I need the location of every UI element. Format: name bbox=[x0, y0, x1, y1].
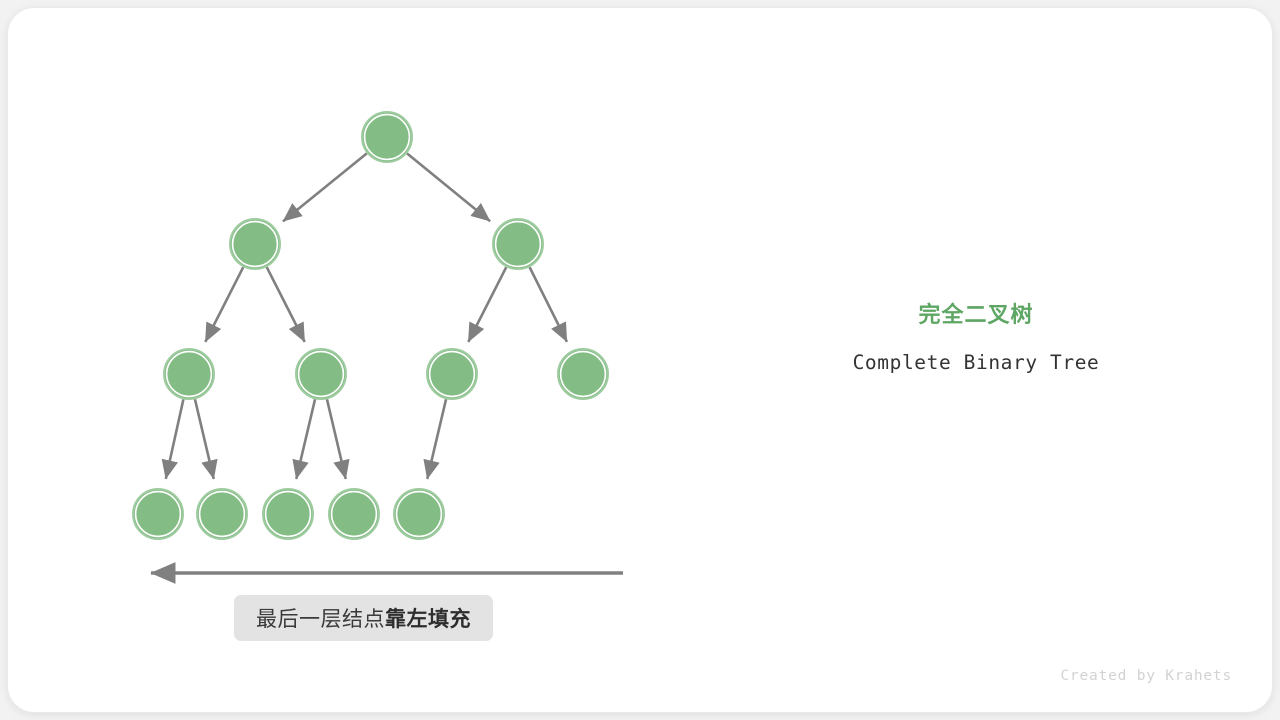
tree-edge bbox=[427, 399, 446, 479]
tree-edge bbox=[530, 267, 567, 342]
tree-node[interactable] bbox=[133, 489, 183, 539]
tree-edge bbox=[195, 399, 214, 479]
tree-node-core bbox=[333, 493, 375, 535]
tree-node-layer bbox=[133, 112, 608, 539]
tree-edge bbox=[407, 153, 490, 221]
tree-node[interactable] bbox=[493, 219, 543, 269]
tree-node[interactable] bbox=[263, 489, 313, 539]
watermark-credit: Created by Krahets bbox=[1060, 668, 1232, 684]
tree-edge bbox=[468, 267, 506, 342]
tree-node[interactable] bbox=[558, 349, 608, 399]
caption-title: 完全二叉树 bbox=[776, 300, 1176, 330]
tree-node[interactable] bbox=[427, 349, 477, 399]
tree-node-core bbox=[300, 353, 342, 395]
tree-node-core bbox=[267, 493, 309, 535]
tree-node-core bbox=[562, 353, 604, 395]
tree-node[interactable] bbox=[197, 489, 247, 539]
tree-edge bbox=[267, 267, 305, 342]
tree-node-core bbox=[398, 493, 440, 535]
tree-edge bbox=[296, 399, 315, 479]
screenshot-stage: 最后一层结点靠左填充 完全二叉树 Complete Binary Tree Cr… bbox=[0, 0, 1280, 720]
tree-node[interactable] bbox=[362, 112, 412, 162]
tree-node[interactable] bbox=[296, 349, 346, 399]
tree-edge bbox=[166, 399, 184, 478]
tree-node[interactable] bbox=[329, 489, 379, 539]
tree-edge-layer bbox=[166, 153, 567, 479]
diagram-card: 最后一层结点靠左填充 完全二叉树 Complete Binary Tree Cr… bbox=[8, 8, 1272, 712]
caption-block: 完全二叉树 Complete Binary Tree bbox=[776, 300, 1176, 376]
status-badge-label: 最后一层结点靠左填充 bbox=[256, 603, 471, 633]
caption-subtitle: Complete Binary Tree bbox=[776, 350, 1176, 376]
tree-node-core bbox=[431, 353, 473, 395]
tree-edge bbox=[283, 153, 367, 221]
badge-text-emphasis: 靠左填充 bbox=[385, 608, 471, 631]
tree-node-core bbox=[137, 493, 179, 535]
tree-node-core bbox=[234, 223, 276, 265]
tree-node-core bbox=[366, 116, 408, 158]
tree-node-core bbox=[168, 353, 210, 395]
tree-node[interactable] bbox=[394, 489, 444, 539]
tree-edge bbox=[327, 399, 346, 479]
badge-text-plain: 最后一层结点 bbox=[256, 608, 385, 631]
status-badge: 最后一层结点靠左填充 bbox=[234, 595, 493, 641]
tree-edge bbox=[205, 267, 243, 342]
tree-node-core bbox=[497, 223, 539, 265]
tree-node[interactable] bbox=[230, 219, 280, 269]
tree-node-core bbox=[201, 493, 243, 535]
tree-node[interactable] bbox=[164, 349, 214, 399]
